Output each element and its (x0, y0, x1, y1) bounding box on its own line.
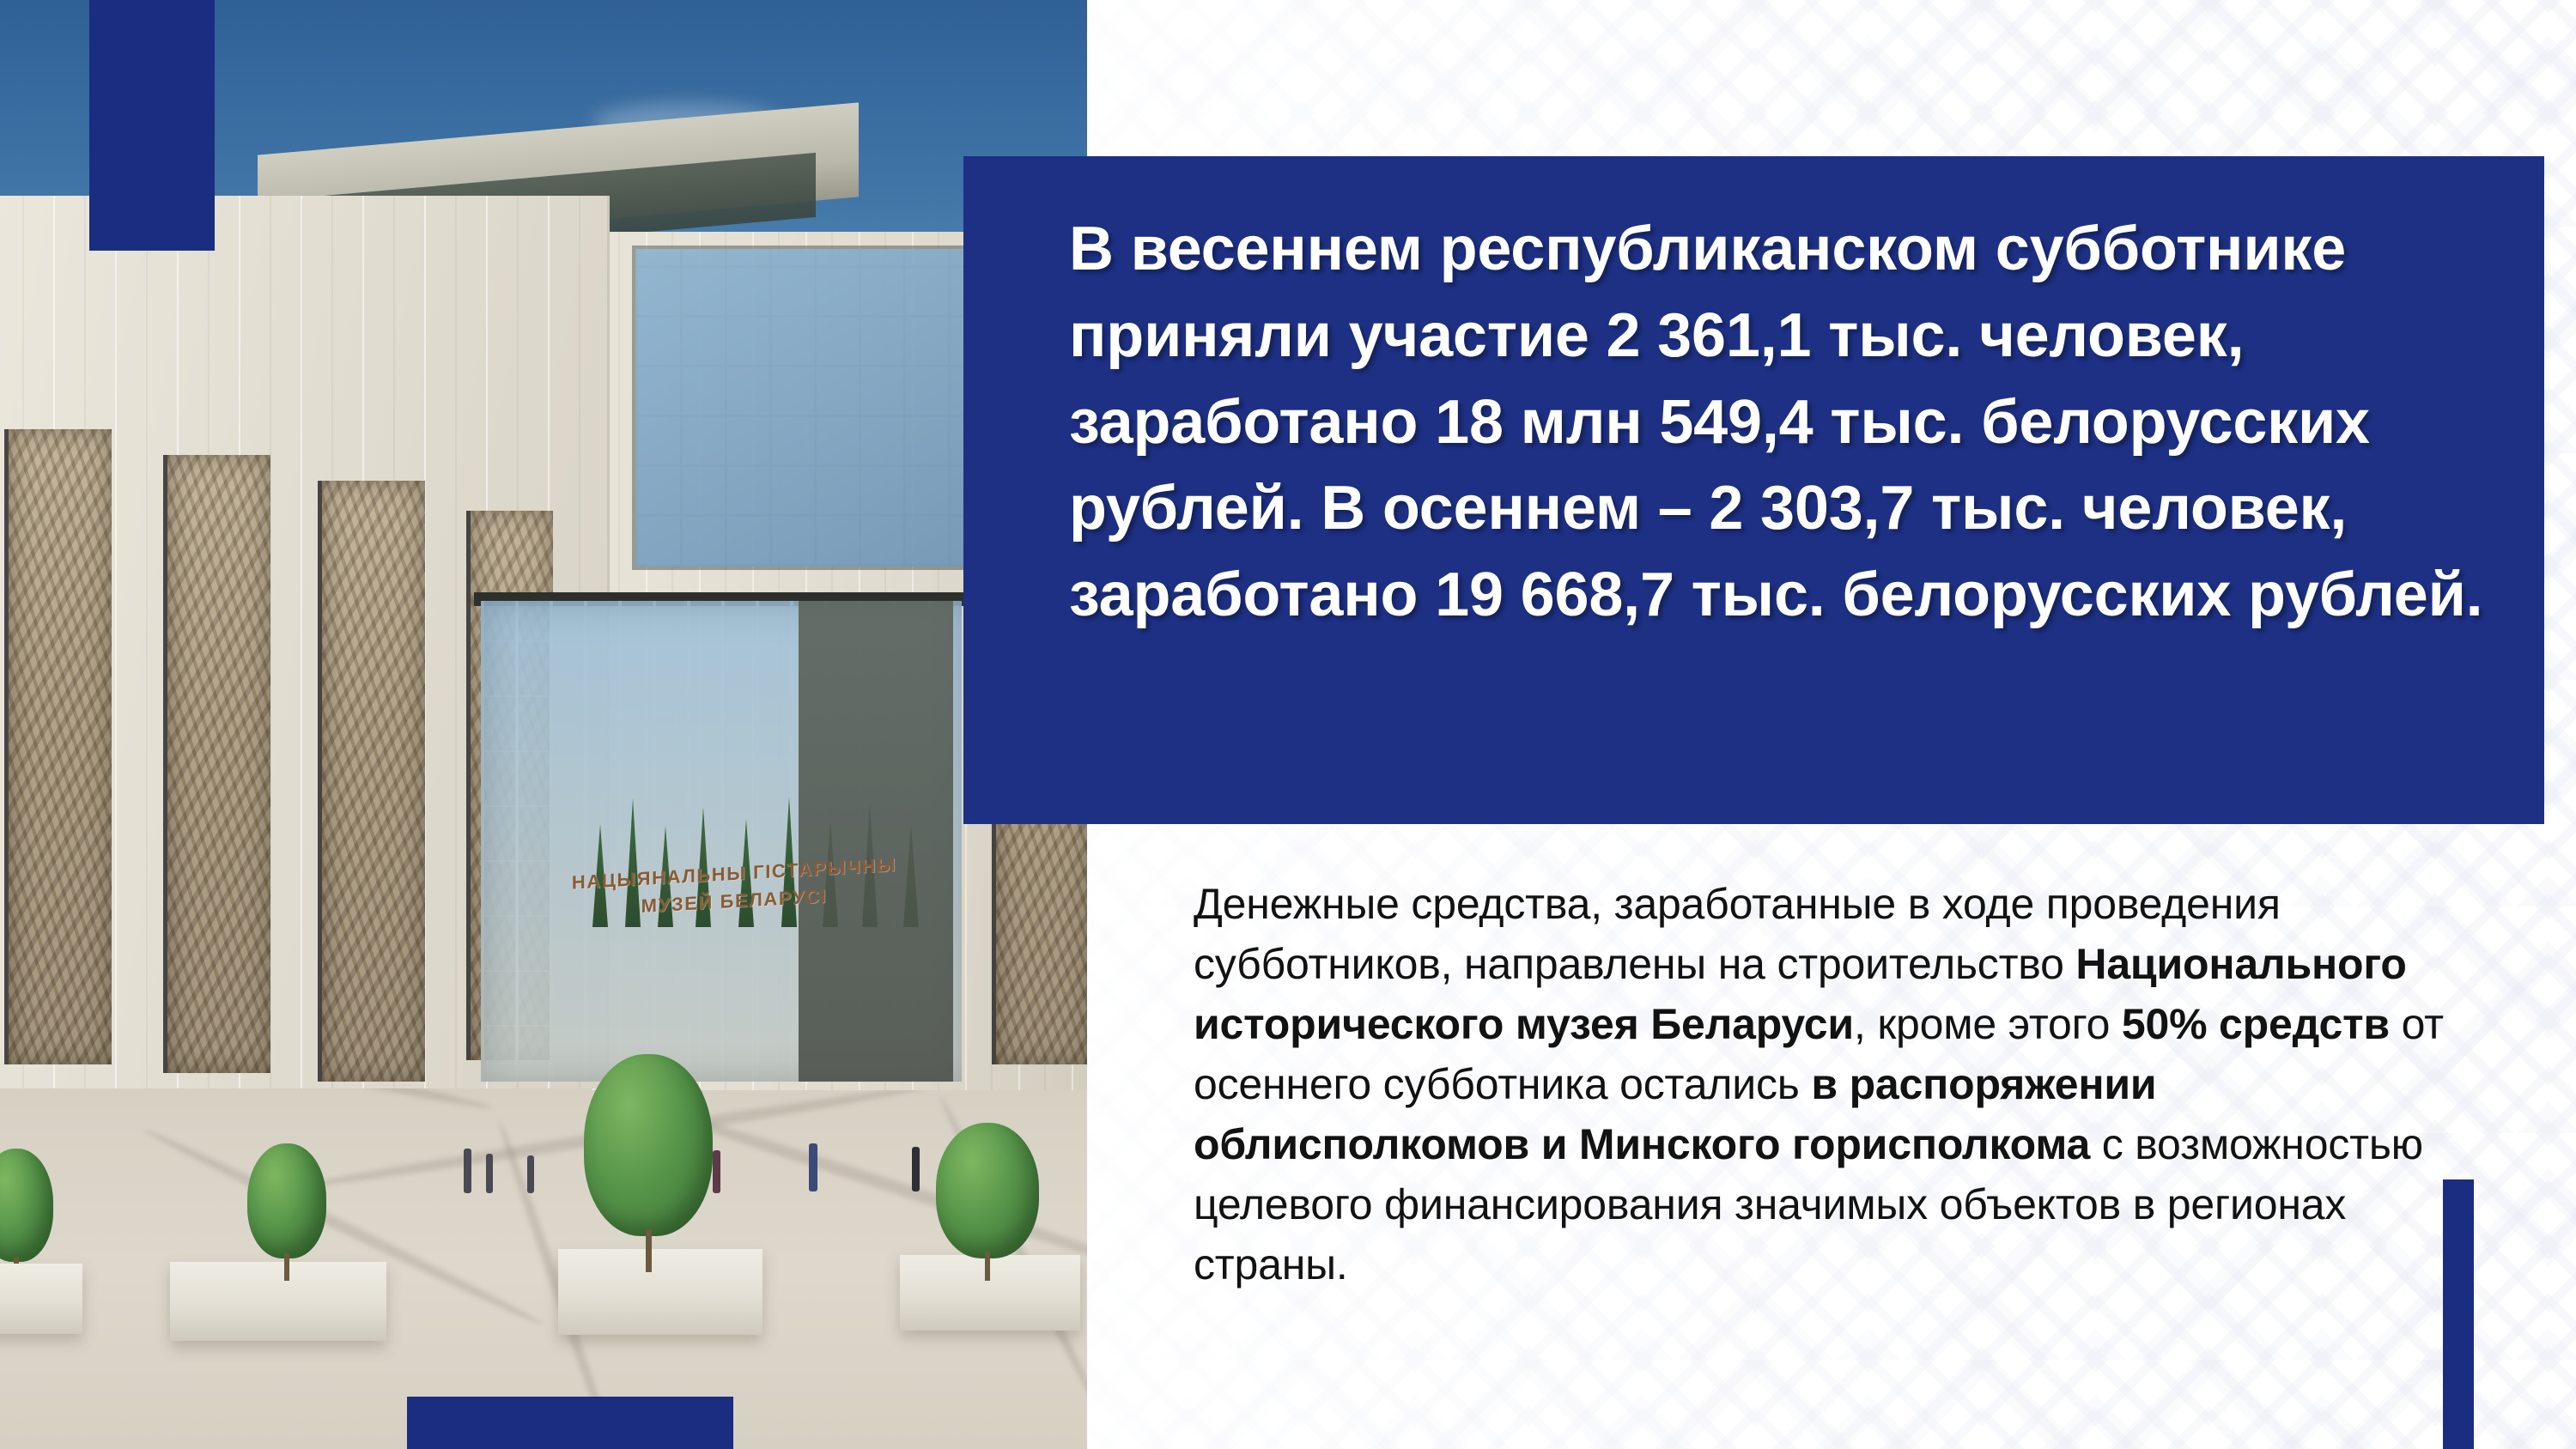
stone-relief-panel (322, 481, 425, 1082)
tree (936, 1123, 1039, 1274)
planter-box (558, 1249, 762, 1335)
reflected-conifer (592, 824, 608, 927)
tree-crown (936, 1123, 1039, 1258)
accent-bar-bottom-right (2443, 1179, 2474, 1449)
tree-trunk (646, 1229, 652, 1272)
tree-crown (0, 1149, 53, 1262)
tree-trunk (985, 1252, 990, 1281)
stone-relief-panel (167, 455, 270, 1073)
accent-bar-top-left (89, 0, 215, 251)
stone-relief-panel (9, 429, 112, 1064)
tree (0, 1149, 53, 1276)
planter-box (0, 1264, 82, 1334)
headline-panel: В весеннем республиканском субботнике пр… (963, 156, 2544, 824)
person-figure (527, 1155, 534, 1193)
reflected-conifer (625, 798, 641, 927)
body-bold-share: 50% средств (2122, 1000, 2390, 1048)
tree-crown (584, 1054, 713, 1236)
entrance-dark-wall (799, 601, 953, 1082)
accent-bar-bottom-left (407, 1397, 733, 1449)
reflected-conifer (696, 807, 711, 927)
slide-root: НАЦЫЯНАЛЬНЫ ГІСТАРЫЧНЫ МУЗЕЙ БЕЛАРУСІ (0, 0, 2576, 1449)
person-figure (486, 1154, 493, 1193)
tree-crown (247, 1143, 326, 1258)
body-part-2: , кроме этого (1854, 1000, 2122, 1048)
reflected-conifer (658, 826, 673, 927)
museum-render-photo: НАЦЫЯНАЛЬНЫ ГІСТАРЫЧНЫ МУЗЕЙ БЕЛАРУСІ (0, 0, 1087, 1449)
headline-text: В весеннем республиканском субботнике пр… (1069, 206, 2489, 639)
planter-box (170, 1262, 386, 1341)
tree (584, 1054, 713, 1260)
tree (247, 1143, 326, 1272)
body-paragraph: Денежные средства, заработанные в ходе п… (1194, 874, 2456, 1294)
person-figure (713, 1150, 720, 1193)
person-figure (912, 1147, 920, 1191)
tree-trunk (284, 1253, 289, 1281)
person-figure (809, 1143, 817, 1191)
reflected-conifer (738, 819, 754, 927)
person-figure (464, 1149, 471, 1193)
reflected-conifer (781, 797, 797, 927)
